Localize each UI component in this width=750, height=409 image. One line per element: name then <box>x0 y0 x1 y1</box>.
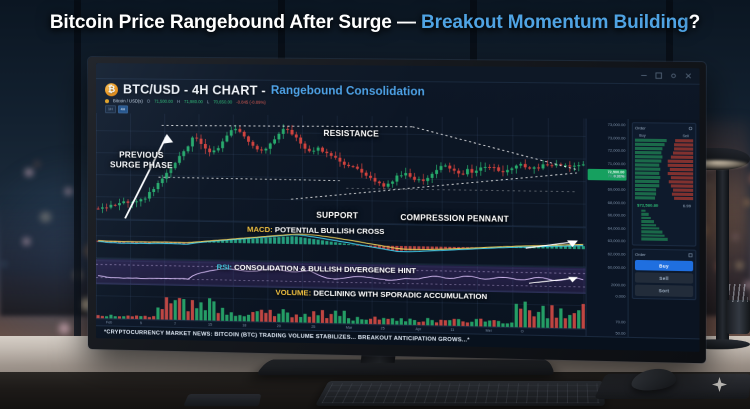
spread-qty: 6.99 <box>683 203 691 208</box>
orderbook-sell-row[interactable] <box>667 172 693 176</box>
rsi-arrow-head <box>568 276 578 282</box>
macd-histogram-bar <box>290 237 293 245</box>
macd-axis-label: 0.000 <box>615 294 625 298</box>
annotation-resistance: RESISTANCE <box>323 129 379 139</box>
bokeh-light <box>745 200 750 205</box>
orderbook-sell-row[interactable] <box>674 143 693 147</box>
annotation-volume-key: VOLUME: <box>275 288 311 298</box>
macd-histogram-bar <box>351 245 354 246</box>
candle-body <box>101 207 104 208</box>
orderbook-buy-row[interactable] <box>635 196 655 200</box>
macd-histogram-bar <box>260 238 263 243</box>
ticker-open: 71,500.00 <box>154 99 173 104</box>
close-icon[interactable] <box>685 72 692 79</box>
candle-body <box>174 163 177 168</box>
candle-body <box>413 177 416 180</box>
candle-body <box>506 170 509 172</box>
surge-arrow-shaft <box>125 135 167 219</box>
volume-bar <box>453 319 456 326</box>
candle-body <box>252 142 255 146</box>
macd-histogram-bar <box>356 246 359 247</box>
macd-histogram-bar <box>251 239 254 244</box>
orderbook-gear-icon[interactable] <box>688 126 693 132</box>
orderbook-sell-row[interactable] <box>675 139 693 142</box>
macd-histogram-bar <box>550 247 553 249</box>
candle-body <box>234 129 237 130</box>
volume-bar <box>191 300 194 320</box>
settings-icon[interactable] <box>670 72 677 79</box>
volume-bar <box>334 311 337 324</box>
orderbook-mini-bar <box>641 238 667 241</box>
volume-bar <box>373 317 376 325</box>
orderbook-buy-row[interactable] <box>635 147 662 151</box>
chart-subtitle: Rangebound Consolidation <box>271 85 425 99</box>
time-axis-label: O <box>521 329 524 333</box>
surge-arrow-head <box>162 134 174 144</box>
volume-bar <box>528 310 531 327</box>
trading-app: ₿ BTC/USD - 4H CHART - Rangebound Consol… <box>96 63 700 352</box>
volume-bar <box>156 307 159 319</box>
orderbook-buy-row[interactable] <box>635 159 661 163</box>
bitcoin-icon: ₿ <box>105 83 118 96</box>
macd-histogram-bar <box>573 247 576 250</box>
candle-body <box>404 173 407 175</box>
time-axis-label: 11 <box>450 328 454 332</box>
annotation-support: SUPPORT <box>316 211 358 221</box>
candle-body <box>312 151 315 152</box>
candle-body <box>546 164 549 165</box>
volume-bar <box>537 312 540 328</box>
pennant-upper-trendline <box>413 127 577 170</box>
orderbook-sell-row[interactable] <box>674 197 693 201</box>
price-axis-label: 66,000.00 <box>608 213 626 217</box>
volume-bar <box>251 312 254 321</box>
volume-bar <box>555 318 558 328</box>
volume-bar <box>515 304 518 327</box>
candle-body <box>391 182 394 184</box>
price-axis-label: 72,000.00 <box>608 149 626 153</box>
orderbook-panel[interactable]: Order Buy Sell $72,580.8 <box>632 122 697 246</box>
macd-histogram-bar <box>338 243 341 245</box>
orderbook-buy-row[interactable] <box>635 180 659 184</box>
macd-histogram-bar <box>238 240 241 244</box>
macd-histogram-bar <box>559 247 562 249</box>
sell-button[interactable]: Sell <box>635 272 693 284</box>
time-axis-label: 20 <box>277 324 281 328</box>
candle-body <box>488 167 491 168</box>
annotation-previous-surge-line1: PREVIOUS <box>119 149 164 160</box>
volume-bar <box>303 314 306 323</box>
macd-histogram-bar <box>577 247 580 250</box>
sort-button[interactable]: Sort <box>635 285 693 297</box>
candle-body <box>550 165 553 166</box>
bokeh-light <box>2 262 6 266</box>
orderbook-mini-bar <box>641 224 656 227</box>
volume-bar <box>174 300 177 320</box>
resistance-line <box>162 124 413 129</box>
macd-histogram-bar <box>282 237 285 244</box>
timeframe-1h[interactable]: 1H <box>105 105 116 113</box>
candle-body <box>135 201 138 202</box>
macd-histogram-bar <box>334 243 337 246</box>
annotation-rsi-key: RSI: <box>217 262 232 271</box>
macd-histogram-bar <box>273 238 276 244</box>
macd-histogram-bar <box>404 246 407 250</box>
candle-body <box>347 165 350 166</box>
timeframe-4h[interactable]: 4H <box>118 105 129 113</box>
candle-body <box>221 141 224 148</box>
candle-body <box>444 166 447 167</box>
volume-bar <box>260 310 263 322</box>
candle-body <box>475 171 478 173</box>
ticker-low: 70,650.00 <box>213 99 232 104</box>
orderbook-mini-depth <box>635 210 693 244</box>
candle-body <box>387 184 390 187</box>
macd-histogram-bar <box>256 239 259 244</box>
spread-price: $72,580.80 <box>637 202 658 207</box>
rsi-axis-label: 50.00 <box>615 331 625 335</box>
candle-body <box>395 176 398 182</box>
volume-bar <box>161 309 164 319</box>
volume-bar <box>524 302 527 328</box>
macd-histogram-bar <box>343 244 346 246</box>
volume-bar <box>330 314 333 323</box>
candle-body <box>493 167 496 168</box>
candle-body <box>238 129 241 132</box>
candle-body <box>356 167 359 169</box>
volume-bar <box>178 298 181 320</box>
orderbook-sell-row[interactable] <box>669 180 693 184</box>
candle-body <box>217 148 220 150</box>
volume-bar <box>230 312 233 321</box>
candle-body <box>282 129 285 134</box>
orderbook-sell-row[interactable] <box>673 151 693 155</box>
price-axis-label: 68,000.00 <box>608 200 626 204</box>
candle-body <box>374 178 377 182</box>
macd-histogram-bar <box>269 238 272 244</box>
orderbook-columns: Buy Sell <box>635 133 693 138</box>
volume-bar <box>541 306 544 328</box>
candle-body <box>225 136 228 142</box>
macd-histogram-bar <box>230 240 233 243</box>
candle-body <box>497 167 500 171</box>
volume-bar <box>217 313 220 321</box>
candle-body <box>299 138 302 144</box>
support-extension-line <box>346 188 577 191</box>
macd-histogram-bar <box>555 247 558 249</box>
volume-bar <box>256 311 259 321</box>
macd-histogram-bar <box>308 239 311 245</box>
candle-body <box>426 178 429 181</box>
orderbook-mini-bar <box>641 231 662 234</box>
price-axis-label: 60,000.00 <box>608 265 626 269</box>
volume-bar <box>282 309 285 322</box>
scene: ₿ BTC/USD - 4H CHART - Rangebound Consol… <box>0 0 750 409</box>
candle-body <box>260 150 263 151</box>
orderbook-sell-row[interactable] <box>670 156 693 160</box>
volume-bar <box>316 315 319 323</box>
candle-body <box>448 166 451 169</box>
time-axis-label: 7 <box>174 322 176 326</box>
time-axis-label: 15 <box>208 322 212 326</box>
candle-body <box>264 149 267 151</box>
headline-part1: Bitcoin Price Rangebound After Surge — <box>50 12 421 33</box>
candle-body <box>295 134 298 137</box>
candle-body <box>352 166 355 167</box>
volume-bar <box>208 298 211 320</box>
bokeh-light <box>736 262 743 269</box>
bokeh-light <box>40 212 51 223</box>
candle-body <box>114 205 117 206</box>
candle-body <box>343 162 346 165</box>
candle-body <box>277 134 280 140</box>
ticker-low-label: L <box>207 99 209 104</box>
monitor-stand-base <box>254 359 556 375</box>
right-panels: Order Buy Sell $72,580.8 <box>628 119 700 338</box>
candle-body <box>273 139 276 143</box>
candle-body <box>400 175 403 176</box>
candle-body <box>484 167 487 168</box>
orderbook-mini-bar <box>641 220 653 223</box>
bokeh-light <box>733 234 739 240</box>
macd-histogram-bar <box>234 240 237 243</box>
volume-bar <box>550 305 553 328</box>
candle-body <box>182 151 185 156</box>
price-axis-label: 73,000.00 <box>608 136 626 140</box>
candle-body <box>304 144 307 149</box>
macd-histogram-bar <box>347 244 350 245</box>
time-axis-label: 18 <box>242 323 246 327</box>
pen-cup <box>726 300 750 334</box>
candle-body <box>118 203 121 205</box>
volume-bar <box>532 316 535 327</box>
orderbook-buy-row[interactable] <box>635 184 659 188</box>
bokeh-light <box>25 169 32 176</box>
volume-bar <box>475 319 478 326</box>
time-axis-label: 25 <box>381 326 385 330</box>
ticker-pair: Bitcoin / USD(s) <box>113 98 143 103</box>
volume-bar <box>286 312 289 322</box>
candle-body <box>204 144 207 149</box>
order-entry-gear-icon[interactable] <box>688 253 693 259</box>
candle-body <box>422 179 425 181</box>
candle-body <box>139 199 142 201</box>
order-entry-title-row: Order <box>635 252 693 259</box>
annotation-macd-key: MACD: <box>247 225 273 235</box>
orderbook-sell-row[interactable] <box>668 160 693 164</box>
orderbook-buy-row[interactable] <box>635 151 662 155</box>
candle-body <box>515 166 518 169</box>
annotation-macd-text: POTENTIAL BULLISH CROSS <box>273 225 385 236</box>
macd-histogram-bar <box>325 241 328 245</box>
volume-bar <box>573 313 576 328</box>
bokeh-light <box>34 161 40 167</box>
page-headline: Bitcoin Price Rangebound After Surge — B… <box>0 12 750 34</box>
candle-body <box>165 173 168 179</box>
orderbook-depth[interactable] <box>635 139 693 202</box>
orderbook-buy-row[interactable] <box>635 192 656 196</box>
orderbook-buy-row[interactable] <box>635 188 656 192</box>
ticker-change: -0.845 (-0.89%) <box>236 100 266 105</box>
price-axis-label: 63,000.00 <box>608 239 626 243</box>
monitor-screen: ₿ BTC/USD - 4H CHART - Rangebound Consol… <box>96 63 700 352</box>
orderbook-buy-label: Buy <box>639 134 646 138</box>
price-axis-label: 73,000.00 <box>608 123 626 127</box>
candle-body <box>453 169 456 171</box>
candle-body <box>213 150 216 152</box>
time-axis-label: Apr <box>415 327 421 331</box>
candle-body <box>256 146 259 150</box>
orderbook-buy-row[interactable] <box>635 172 660 176</box>
volume-bar <box>277 314 280 322</box>
ticker-coin-dot-icon <box>105 99 109 103</box>
candle-body <box>568 165 571 166</box>
annotation-previous-surge: PREVIOUS SURGE PHASE <box>110 149 173 170</box>
macd-histogram-bar <box>568 247 571 250</box>
candle-body <box>109 205 112 208</box>
ticker-open-label: O <box>147 99 150 104</box>
ticker-high: 71,980.00 <box>184 99 203 104</box>
macd-histogram-bar <box>304 238 307 245</box>
candle-body <box>417 179 420 180</box>
candle-body <box>466 169 469 174</box>
candle-body <box>243 132 246 137</box>
orderbook-buy-row[interactable] <box>635 143 665 147</box>
candle-body <box>573 166 576 167</box>
candle-body <box>291 130 294 135</box>
macd-histogram-bar <box>243 240 246 244</box>
volume-bar <box>199 302 202 320</box>
bokeh-light <box>65 188 72 195</box>
orderbook-mini-bar <box>641 213 648 216</box>
price-axis-label: 62,000.00 <box>608 252 626 256</box>
candle-body <box>369 176 372 178</box>
volume-bar <box>169 303 172 319</box>
orderbook-sell-row[interactable] <box>674 147 693 151</box>
monitor: ₿ BTC/USD - 4H CHART - Rangebound Consol… <box>88 57 706 363</box>
orderbook-sell-label: Sell <box>683 134 689 138</box>
candle-body <box>148 192 151 199</box>
orderbook-sell-row[interactable] <box>668 164 693 168</box>
chart-column: PREVIOUS SURGE PHASE RESISTANCE SUPPORT … <box>96 113 586 336</box>
macd-histogram-bar <box>277 237 280 244</box>
volume-bar <box>568 315 571 328</box>
minimize-icon[interactable] <box>640 72 647 79</box>
candle-body <box>325 152 328 153</box>
volume-bar <box>582 304 585 329</box>
volume-bar <box>546 318 549 328</box>
annotation-previous-surge-line2: SURGE PHASE <box>110 159 173 170</box>
window-mullion <box>74 0 81 372</box>
orderbook-mini-bar <box>641 234 664 237</box>
volume-bar <box>187 311 190 320</box>
smartphone[interactable] <box>183 394 261 406</box>
orderbook-title-row: Order <box>635 125 693 132</box>
orderbook-buy-row[interactable] <box>635 155 663 159</box>
volume-bar <box>338 316 341 323</box>
macd-histogram-bar <box>295 237 298 245</box>
candle-body <box>208 149 211 153</box>
candle-body <box>435 170 438 174</box>
orderbook-sell-row[interactable] <box>669 168 693 172</box>
time-axis-label: Mar <box>346 325 352 329</box>
orderbook-mini-bar <box>641 227 659 230</box>
sparkle-watermark-icon <box>709 374 731 396</box>
volume-bar <box>321 310 324 323</box>
macd-histogram-bar <box>582 246 585 249</box>
orderbook-buy-row[interactable] <box>635 163 660 167</box>
chart-workspace: PREVIOUS SURGE PHASE RESISTANCE SUPPORT … <box>96 113 700 338</box>
orderbook-buy-row[interactable] <box>635 167 661 171</box>
orderbook-buy-row[interactable] <box>635 176 661 180</box>
macd-axis-label: 2000.00 <box>611 283 625 287</box>
macd-histogram-bar <box>317 240 320 245</box>
orderbook-sell-row[interactable] <box>674 189 694 193</box>
orderbook-sell-row[interactable] <box>671 176 693 180</box>
time-axis-label: 5 <box>140 321 142 325</box>
price-pane[interactable]: PREVIOUS SURGE PHASE RESISTANCE SUPPORT … <box>96 113 586 229</box>
candle-body <box>479 167 482 170</box>
candle-body <box>510 168 513 170</box>
candle-body <box>365 173 368 176</box>
candle-body <box>440 166 443 170</box>
candle-body <box>528 167 531 168</box>
keyboard[interactable] <box>315 381 605 406</box>
candle-body <box>462 174 465 175</box>
candle-body <box>269 143 272 148</box>
candle-body <box>127 201 130 203</box>
price-axis[interactable]: 72,500.000.31% 73,000.0073,000.0072,000.… <box>586 119 628 337</box>
macd-histogram-bar <box>330 242 333 245</box>
time-axis-label: Feb <box>106 320 112 324</box>
volume-bar <box>479 319 482 327</box>
orderbook-buy-row[interactable] <box>635 139 666 143</box>
candle-body <box>542 164 545 168</box>
candle-body <box>457 171 460 174</box>
order-entry-panel[interactable]: Order Buy Sell Sort <box>632 249 697 300</box>
candle-body <box>230 130 233 135</box>
macd-histogram-bar <box>312 239 315 244</box>
candle-body <box>334 156 337 158</box>
headline-part3: ? <box>689 12 701 33</box>
candle-body <box>157 183 160 189</box>
candle-body <box>308 149 311 151</box>
orderbook-mini-bar <box>641 217 651 220</box>
buy-button[interactable]: Buy <box>635 260 693 272</box>
keyboard-keys <box>322 383 600 403</box>
range-support-line <box>158 177 339 180</box>
candle-body <box>317 148 320 151</box>
macd-histogram-bar <box>564 247 567 250</box>
candle-body <box>338 158 341 162</box>
bokeh-light <box>59 323 70 334</box>
macd-histogram-bar <box>299 238 302 245</box>
maximize-icon[interactable] <box>655 72 662 79</box>
candle-body <box>247 136 250 141</box>
headline-part2: Breakout Momentum Building <box>421 12 689 33</box>
macd-histogram-bar <box>286 237 289 244</box>
time-axis-label: Mei <box>486 329 492 333</box>
candle-body <box>191 138 194 147</box>
orderbook-title: Order <box>635 125 646 131</box>
orderbook-sell-row[interactable] <box>670 184 693 188</box>
candle-body <box>97 209 100 210</box>
volume-bar <box>312 311 315 323</box>
orderbook-sell-row[interactable] <box>672 193 693 197</box>
candle-body <box>502 171 505 172</box>
candle-body <box>187 146 190 151</box>
candle-body <box>152 189 155 192</box>
